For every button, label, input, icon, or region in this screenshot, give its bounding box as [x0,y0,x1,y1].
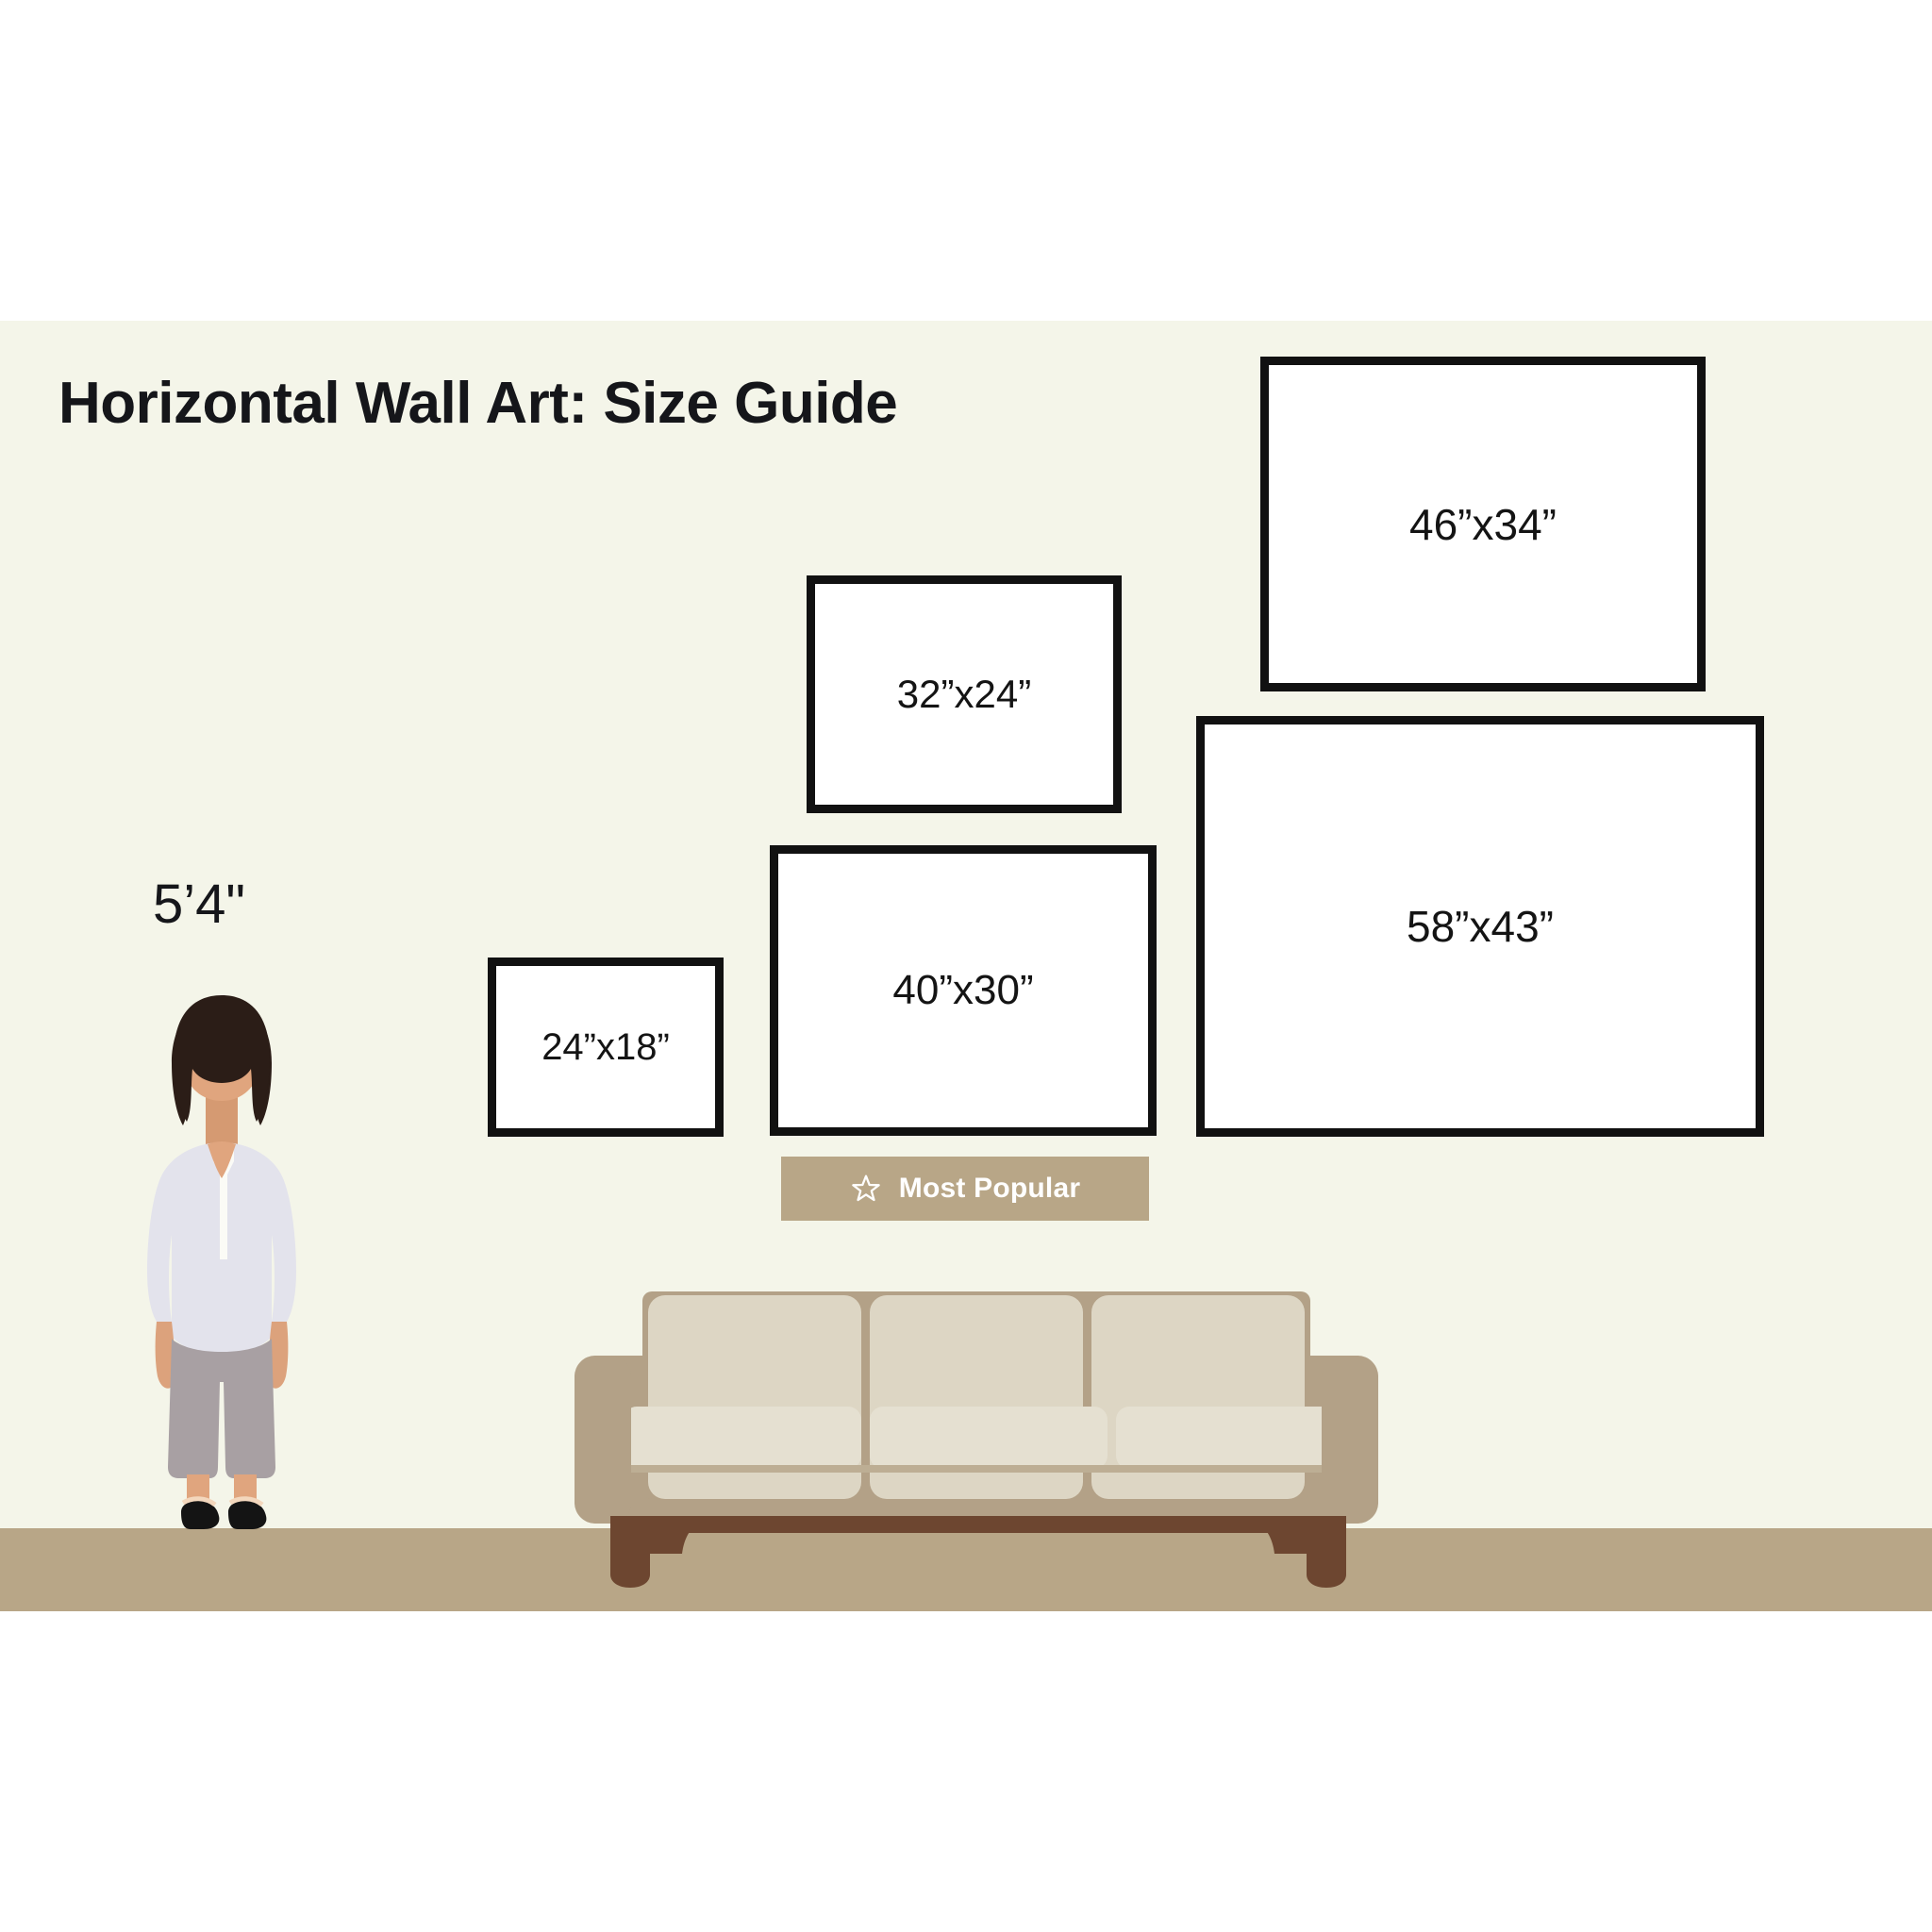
height-reference-label: 5’4" [153,873,245,936]
art-frame-32x24[interactable]: 32”x24” [807,575,1122,813]
wall-art-size-guide-scene: Horizontal Wall Art: Size Guide 5’4" 24”… [0,0,1932,1932]
star-outline-icon [850,1173,882,1205]
most-popular-badge[interactable]: Most Popular [781,1157,1149,1221]
art-frame-label: 46”x34” [1409,499,1557,550]
art-frame-label: 58”x43” [1407,901,1554,952]
art-frame-label: 40”x30” [892,967,1033,1014]
art-frame-label: 32”x24” [897,672,1031,717]
person-figure-icon [113,976,330,1542]
most-popular-badge-label: Most Popular [899,1173,1080,1205]
art-frame-40x30[interactable]: 40”x30” [770,845,1157,1136]
sofa-icon [561,1278,1391,1590]
art-frame-46x34[interactable]: 46”x34” [1260,357,1706,691]
art-frame-label: 24”x18” [541,1026,670,1069]
art-frame-24x18[interactable]: 24”x18” [488,958,724,1137]
art-frame-58x43[interactable]: 58”x43” [1196,716,1764,1137]
page-title: Horizontal Wall Art: Size Guide [58,370,897,437]
